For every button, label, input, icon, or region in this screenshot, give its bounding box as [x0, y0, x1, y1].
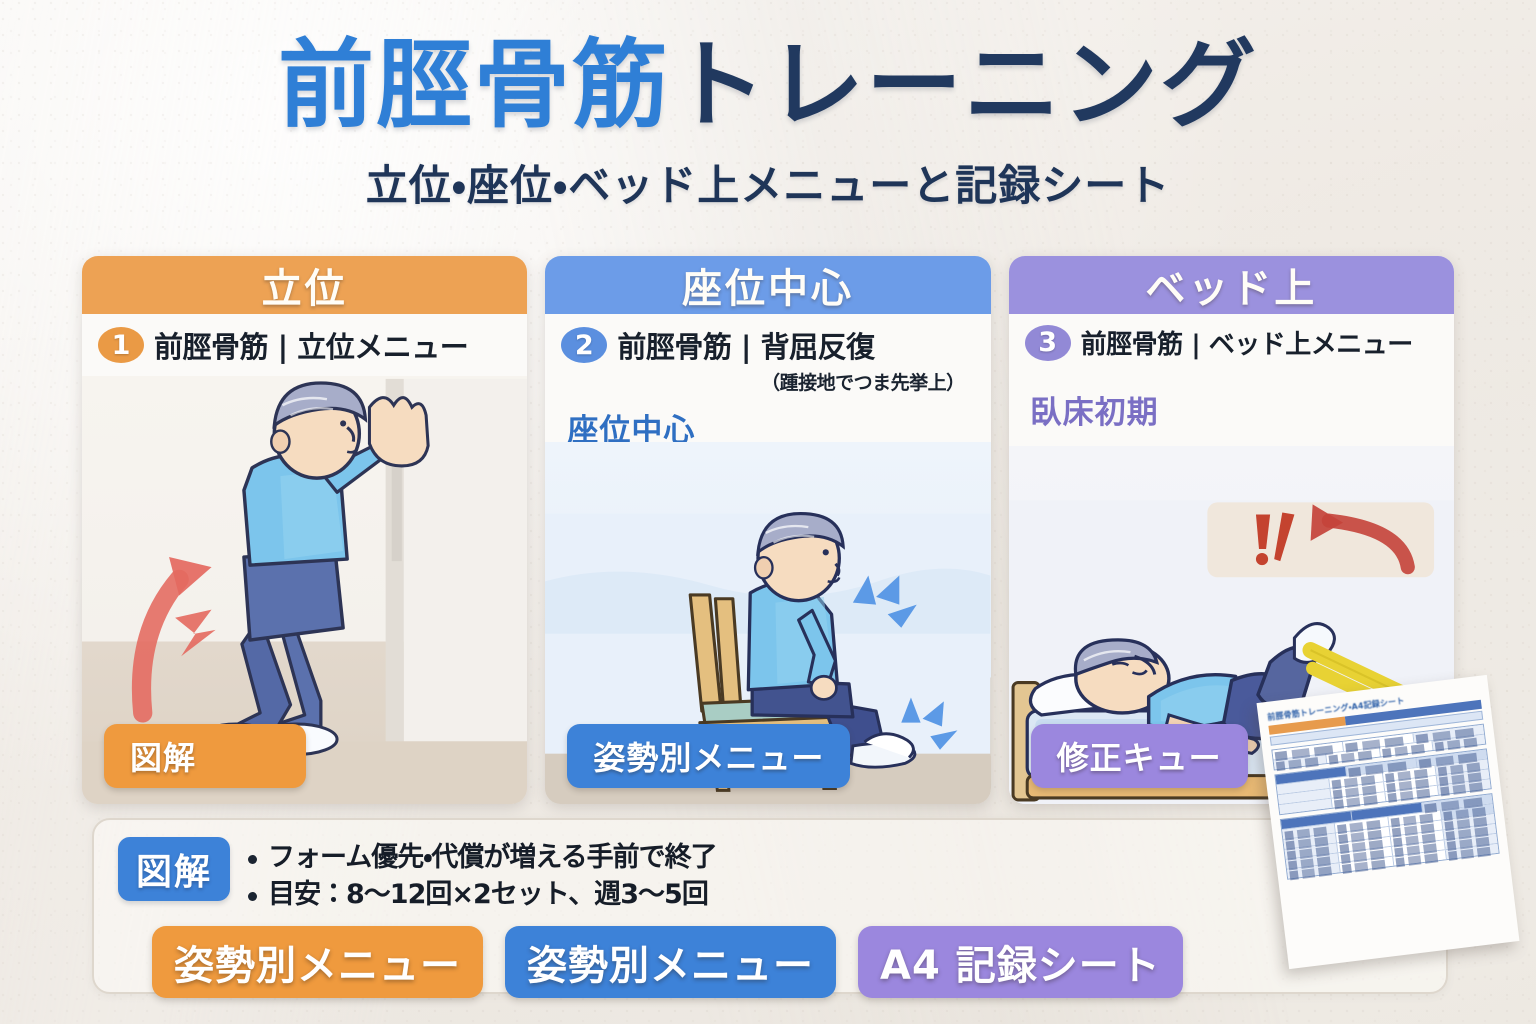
- card-bed-title: 前脛骨筋 | ベッド上メニュー: [1081, 324, 1413, 361]
- page-title: 前脛骨筋トレーニング: [0, 34, 1536, 138]
- card-standing-badge: 1: [98, 327, 144, 363]
- card-bed-badge: 3: [1025, 325, 1071, 361]
- card-bed-title-row: 3 前脛骨筋 | ベッド上メニュー: [1009, 314, 1454, 361]
- footer-panel: 図解 フォーム優先・代償が増える手前で終了 目安：8〜12回×2セット、週3〜5…: [92, 818, 1448, 994]
- card-seated-title-row: 2 前脛骨筋 | 背屈反復: [545, 314, 990, 366]
- card-seated-subtitle: （踵接地でつま先挙上）: [545, 366, 990, 395]
- card-standing-header: 立位: [82, 256, 527, 314]
- page-title-accent: 前脛骨筋: [278, 29, 670, 141]
- title-block: 前脛骨筋トレーニング 立位・座位・ベッド上メニューと記録シート: [0, 34, 1536, 213]
- card-seated-badge: 2: [561, 327, 607, 363]
- card-seated-pill[interactable]: 姿勢別メニュー: [567, 724, 850, 788]
- footer-pill-a4-sheet[interactable]: A4 記録シート: [858, 926, 1183, 998]
- card-seated[interactable]: 座位中心 2 前脛骨筋 | 背屈反復 （踵接地でつま先挙上） 座位中心: [545, 256, 990, 804]
- card-bed-header: ベッド上: [1009, 256, 1454, 314]
- note-list: フォーム優先・代償が増える手前で終了 目安：8〜12回×2セット、週3〜5回: [246, 837, 717, 914]
- card-bed-pill[interactable]: 修正キュー: [1031, 724, 1248, 788]
- a4-record-sheet-overlay[interactable]: 前脛骨筋トレーニング・A4記録シート: [1257, 675, 1520, 969]
- poster-root: 前脛骨筋トレーニング 立位・座位・ベッド上メニューと記録シート 立位 1 前脛骨…: [0, 0, 1536, 1024]
- note-item: 目安：8〜12回×2セット、週3〜5回: [246, 876, 717, 913]
- footer-pill-posture-orange[interactable]: 姿勢別メニュー: [152, 926, 483, 998]
- card-row: 立位 1 前脛骨筋 | 立位メニュー: [82, 256, 1454, 804]
- card-standing-pill[interactable]: 図解: [104, 724, 306, 788]
- page-subtitle: 立位・座位・ベッド上メニューと記録シート: [0, 152, 1536, 213]
- card-bed-tag: 臥床初期: [1009, 361, 1454, 432]
- card-standing-title-row: 1 前脛骨筋 | 立位メニュー: [82, 314, 527, 366]
- footer-notes-row: 図解 フォーム優先・代償が増える手前で終了 目安：8〜12回×2セット、週3〜5…: [94, 820, 1446, 914]
- note-item: フォーム優先・代償が増える手前で終了: [246, 839, 717, 876]
- card-standing-title: 前脛骨筋 | 立位メニュー: [154, 324, 468, 366]
- footer-pill-row: 姿勢別メニュー 姿勢別メニュー A4 記録シート: [94, 914, 1446, 998]
- card-seated-title: 前脛骨筋 | 背屈反復: [617, 324, 874, 366]
- card-standing[interactable]: 立位 1 前脛骨筋 | 立位メニュー: [82, 256, 527, 804]
- note-pill[interactable]: 図解: [118, 837, 230, 901]
- page-title-dark: トレーニング: [670, 29, 1258, 141]
- card-seated-header: 座位中心: [545, 256, 990, 314]
- footer-pill-posture-blue[interactable]: 姿勢別メニュー: [505, 926, 836, 998]
